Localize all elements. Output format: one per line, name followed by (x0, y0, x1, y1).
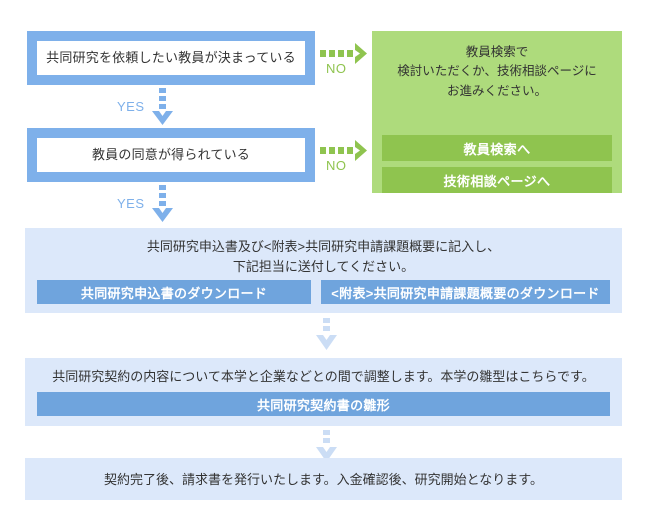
decision-box-faculty-agreed: 教員の同意が得られている (27, 128, 315, 182)
decision-box-faculty-decided: 共同研究を依頼したい教員が決まっている (27, 31, 315, 85)
result-panel-text-line: 教員検索で (372, 43, 622, 62)
arrow-down-dotted-icon (316, 318, 338, 352)
step-panel-text: 契約完了後、請求書を発行いたします。入金確認後、研究開始となります。 (25, 470, 622, 490)
download-application-form-button[interactable]: 共同研究申込書のダウンロード (37, 280, 311, 304)
step-panel-invoice: 契約完了後、請求書を発行いたします。入金確認後、研究開始となります。 (25, 458, 622, 500)
step-panel-text-line: 下記担当に送付してください。 (25, 257, 622, 277)
result-panel-faculty-search: 教員検索で 検討いただくか、技術相談ページに お進みください。 教員検索へ 技術… (372, 31, 622, 193)
arrow-down-dotted-icon (152, 88, 174, 126)
tech-consultation-page-button[interactable]: 技術相談ページへ (382, 167, 612, 193)
decision-box-label: 共同研究を依頼したい教員が決まっている (46, 50, 296, 66)
result-panel-text-line: お進みください。 (372, 82, 622, 101)
step-panel-documents: 共同研究申込書及び<附表>共同研究申請課題概要に記入し、 下記担当に送付してくだ… (25, 228, 622, 313)
branch-label-yes: YES (117, 196, 145, 211)
step-panel-text-line: 共同研究契約の内容について本学と企業などとの間で調整します。本学の雛型はこちらで… (25, 367, 622, 387)
result-panel-text: 教員検索で 検討いただくか、技術相談ページに お進みください。 (372, 43, 622, 101)
faculty-search-button[interactable]: 教員検索へ (382, 135, 612, 161)
step-panel-text: 共同研究契約の内容について本学と企業などとの間で調整します。本学の雛型はこちらで… (25, 367, 622, 387)
decision-box-label: 教員の同意が得られている (92, 147, 250, 163)
step-panel-text: 共同研究申込書及び<附表>共同研究申請課題概要に記入し、 下記担当に送付してくだ… (25, 237, 622, 277)
decision-box-inner: 教員の同意が得られている (37, 138, 305, 172)
decision-box-inner: 共同研究を依頼したい教員が決まっている (37, 41, 305, 75)
branch-label-yes: YES (117, 99, 145, 114)
download-attachment-summary-button[interactable]: <附表>共同研究申請課題概要のダウンロード (321, 280, 610, 304)
contract-template-button[interactable]: 共同研究契約書の雛形 (37, 392, 610, 416)
flowchart-canvas: 共同研究を依頼したい教員が決まっている NO YES 教員の同意が得られている (0, 0, 650, 510)
branch-label-no: NO (326, 158, 347, 173)
arrow-down-dotted-icon (152, 185, 174, 223)
step-panel-text-line: 共同研究申込書及び<附表>共同研究申請課題概要に記入し、 (25, 237, 622, 257)
result-panel-text-line: 検討いただくか、技術相談ページに (372, 62, 622, 81)
step-panel-contract: 共同研究契約の内容について本学と企業などとの間で調整します。本学の雛型はこちらで… (25, 358, 622, 426)
branch-label-no: NO (326, 61, 347, 76)
step-panel-text-line: 契約完了後、請求書を発行いたします。入金確認後、研究開始となります。 (25, 470, 622, 490)
